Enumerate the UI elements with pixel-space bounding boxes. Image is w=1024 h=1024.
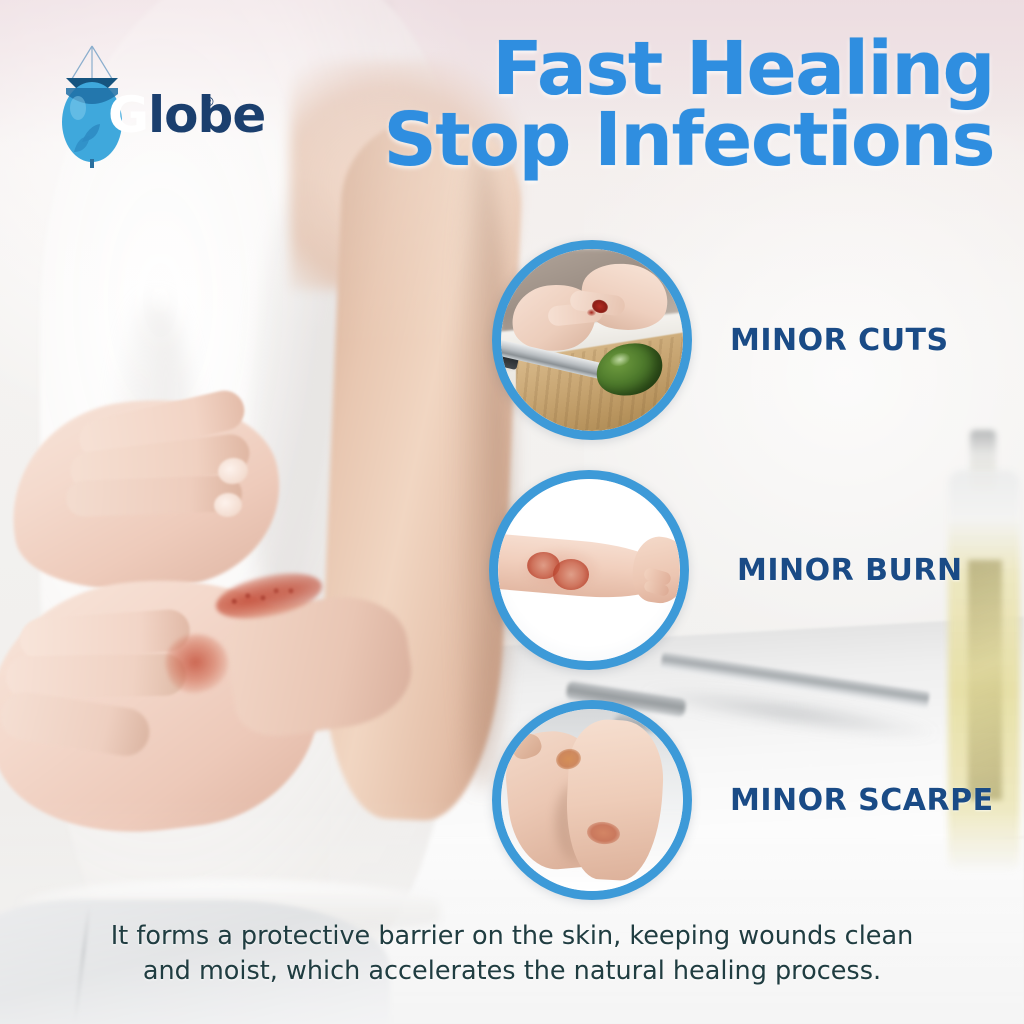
brand-wordmark: Globe — [108, 90, 265, 140]
caption-line-1: It forms a protective barrier on the ski… — [90, 919, 934, 953]
bottom-caption: It forms a protective barrier on the ski… — [0, 919, 1024, 988]
headline: Fast Healing Stop Infections — [294, 34, 994, 176]
minor-burn-photo — [498, 479, 680, 661]
benefit-label-minor-cuts: MINOR CUTS — [730, 323, 949, 358]
advertisement-canvas: Globe ® Fast Healing Stop Infections — [0, 0, 1024, 1024]
registered-trademark-symbol: ® — [204, 94, 214, 109]
benefit-row-minor-cuts[interactable]: MINOR CUTS — [492, 240, 949, 440]
benefit-label-minor-burn: MINOR BURN — [737, 553, 963, 588]
minor-cuts-photo-circle — [492, 240, 692, 440]
finger — [6, 653, 187, 698]
benefit-row-minor-scrape[interactable]: MINOR SCARPE — [492, 700, 994, 900]
benefit-label-minor-scrape: MINOR SCARPE — [730, 783, 994, 818]
logo-letter-g: G — [108, 86, 148, 144]
headline-line-1: Fast Healing — [294, 34, 994, 105]
burn-mark — [553, 559, 589, 590]
minor-cuts-photo — [501, 249, 683, 431]
caption-line-2: and moist, which accelerates the natural… — [90, 954, 934, 988]
brand-logo[interactable]: Globe ® — [56, 42, 236, 170]
minor-scrape-photo — [501, 709, 683, 891]
benefit-row-minor-burn[interactable]: MINOR BURN — [489, 470, 963, 670]
headline-line-2: Stop Infections — [294, 105, 994, 176]
blood-drop — [587, 309, 596, 316]
minor-burn-photo-circle — [489, 470, 689, 670]
minor-scrape-photo-circle — [492, 700, 692, 900]
